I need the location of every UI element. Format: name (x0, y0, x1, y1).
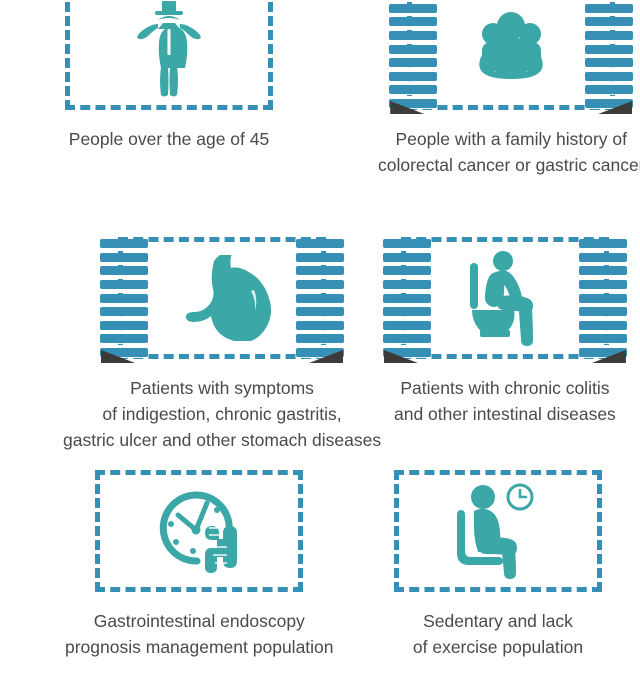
clock-with-colon-icon (151, 485, 247, 577)
icon-frame (401, 237, 609, 359)
icon-frame (118, 237, 326, 359)
icon-container (401, 237, 609, 359)
seated-person-with-clock-icon (450, 483, 546, 579)
caption-line: People over the age of 45 (69, 126, 269, 152)
caption-line: Gastrointestinal endoscopy (65, 608, 334, 634)
card-caption: Sedentary and lack of exercise populatio… (413, 608, 583, 660)
card-caption: Gastrointestinal endoscopy prognosis man… (65, 608, 334, 660)
caption-line: and other intestinal diseases (394, 401, 616, 427)
icon-frame (65, 0, 273, 110)
person-top-hat-icon (130, 0, 208, 101)
icon-container (95, 470, 303, 592)
stomach-icon (172, 255, 272, 341)
caption-line: gastric ulcer and other stomach diseases (63, 427, 381, 453)
group-of-people-icon (465, 9, 557, 89)
card-caption: Patients with chronic colitis and other … (394, 375, 616, 427)
card-sedentary: Sedentary and lack of exercise populatio… (394, 470, 602, 660)
caption-line: colorectal cancer or gastric cancer (378, 152, 640, 178)
card-endoscopy-prognosis: Gastrointestinal endoscopy prognosis man… (65, 470, 334, 660)
icon-container (65, 0, 273, 110)
caption-line: Sedentary and lack (413, 608, 583, 634)
caption-line: of indigestion, chronic gastritis, (63, 401, 381, 427)
icon-container (394, 470, 602, 592)
caption-line: Patients with symptoms (63, 375, 381, 401)
card-stomach-symptoms: Patients with symptoms of indigestion, c… (63, 237, 381, 453)
icon-container (118, 237, 326, 359)
caption-line: Patients with chronic colitis (394, 375, 616, 401)
caption-line: of exercise population (413, 634, 583, 660)
card-family-history: People with a family history of colorect… (378, 0, 640, 178)
caption-line: People with a family history of (378, 126, 640, 152)
person-on-toilet-icon (460, 250, 550, 346)
card-caption: People over the age of 45 (69, 126, 269, 152)
card-caption: Patients with symptoms of indigestion, c… (63, 375, 381, 453)
card-people-over-45: People over the age of 45 (65, 0, 273, 152)
card-caption: People with a family history of colorect… (378, 126, 640, 178)
caption-line: prognosis management population (65, 634, 334, 660)
icon-frame (407, 0, 615, 110)
icon-frame (394, 470, 602, 592)
card-chronic-colitis: Patients with chronic colitis and other … (394, 237, 616, 427)
risk-group-infographic: People over the age of 45 (0, 0, 640, 690)
icon-frame (95, 470, 303, 592)
icon-container (407, 0, 615, 110)
